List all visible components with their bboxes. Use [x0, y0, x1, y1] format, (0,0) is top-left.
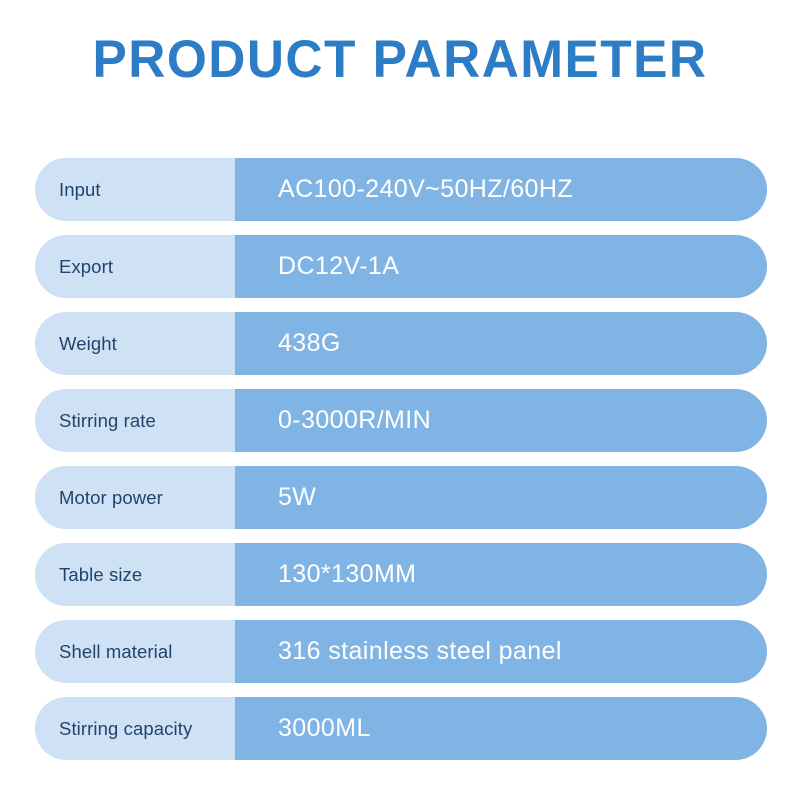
spec-label: Export — [59, 256, 113, 278]
table-row: Shell material 316 stainless steel panel — [35, 620, 767, 683]
spec-label-cell: Input — [35, 158, 235, 221]
spec-label: Table size — [59, 564, 142, 586]
table-row: Stirring rate 0-3000R/MIN — [35, 389, 767, 452]
spec-value: 316 stainless steel panel — [278, 637, 562, 666]
spec-value-cell: 130*130MM — [235, 543, 767, 606]
spec-value: 5W — [278, 483, 316, 512]
table-row: Export DC12V-1A — [35, 235, 767, 298]
spec-label: Weight — [59, 333, 117, 355]
spec-label-cell: Motor power — [35, 466, 235, 529]
spec-value: 0-3000R/MIN — [278, 406, 431, 435]
table-row: Weight 438G — [35, 312, 767, 375]
spec-value: 438G — [278, 329, 341, 358]
specification-table: Input AC100-240V~50HZ/60HZ Export DC12V-… — [35, 158, 767, 760]
table-row: Table size 130*130MM — [35, 543, 767, 606]
spec-value-cell: AC100-240V~50HZ/60HZ — [235, 158, 767, 221]
table-row: Input AC100-240V~50HZ/60HZ — [35, 158, 767, 221]
spec-value-cell: 3000ML — [235, 697, 767, 760]
spec-label: Motor power — [59, 487, 163, 509]
table-row: Motor power 5W — [35, 466, 767, 529]
spec-value: DC12V-1A — [278, 252, 399, 281]
spec-label-cell: Weight — [35, 312, 235, 375]
spec-label: Shell material — [59, 641, 172, 663]
spec-label-cell: Stirring capacity — [35, 697, 235, 760]
spec-label: Stirring rate — [59, 410, 156, 432]
spec-value: 130*130MM — [278, 560, 416, 589]
spec-label: Input — [59, 179, 101, 201]
product-parameter-page: PRODUCT PARAMETER Input AC100-240V~50HZ/… — [0, 0, 800, 800]
spec-value-cell: 0-3000R/MIN — [235, 389, 767, 452]
spec-value: 3000ML — [278, 714, 371, 743]
spec-label: Stirring capacity — [59, 718, 192, 740]
spec-label-cell: Stirring rate — [35, 389, 235, 452]
spec-value-cell: DC12V-1A — [235, 235, 767, 298]
spec-label-cell: Export — [35, 235, 235, 298]
spec-label-cell: Shell material — [35, 620, 235, 683]
spec-value-cell: 316 stainless steel panel — [235, 620, 767, 683]
spec-label-cell: Table size — [35, 543, 235, 606]
spec-value-cell: 5W — [235, 466, 767, 529]
table-row: Stirring capacity 3000ML — [35, 697, 767, 760]
page-title: PRODUCT PARAMETER — [12, 30, 788, 90]
spec-value: AC100-240V~50HZ/60HZ — [278, 175, 573, 204]
spec-value-cell: 438G — [235, 312, 767, 375]
